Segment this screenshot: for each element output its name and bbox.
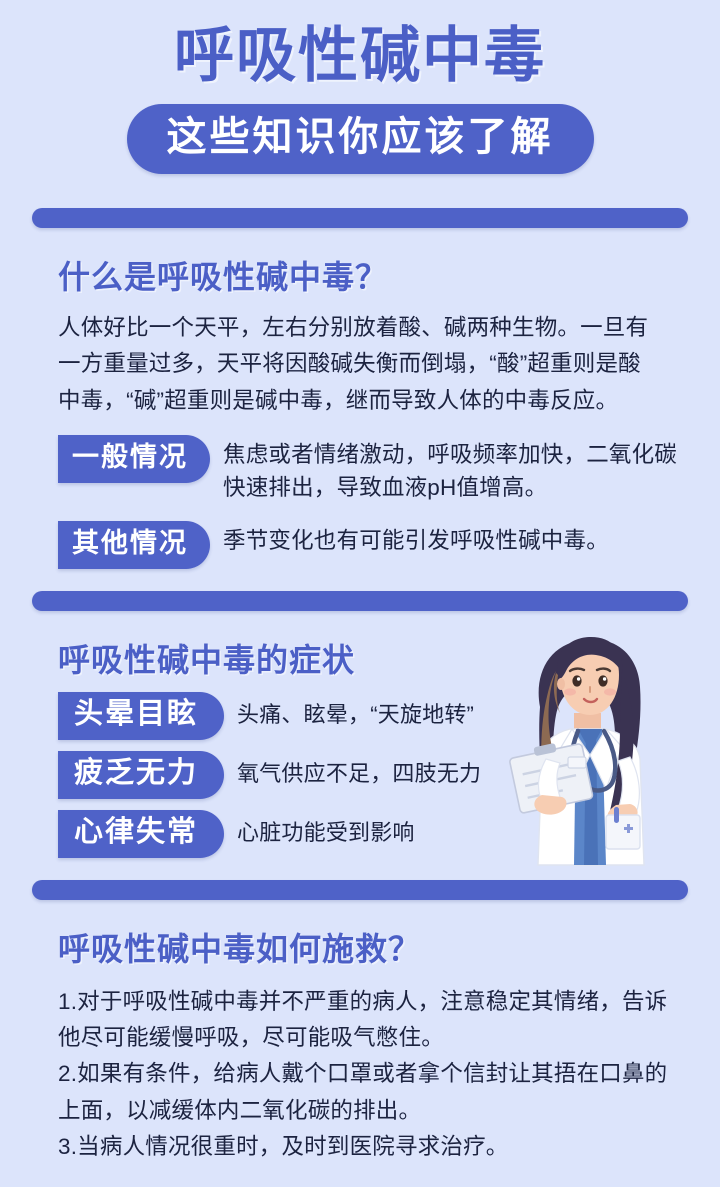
poster-header: 呼吸性碱中毒 这些知识你应该了解: [0, 0, 720, 174]
first-aid-steps: 1.对于呼吸性碱中毒并不严重的病人，注意稳定其情绪，告诉他尽可能缓慢呼吸，尽可能…: [58, 984, 672, 1166]
tag-row-fatigue: 疲乏无力 氧气供应不足，四肢无力: [58, 751, 690, 799]
section-paragraph-what-is: 人体好比一个天平，左右分别放着酸、碱两种生物。一旦有一方重量过多，天平将因酸碱失…: [58, 310, 660, 419]
section-divider-3: [32, 880, 688, 900]
tag-desc-arrhythmia: 心脏功能受到影响: [224, 810, 415, 849]
tag-label-general: 一般情况: [58, 435, 210, 483]
page-title: 呼吸性碱中毒: [0, 26, 720, 86]
tag-desc-other: 季节变化也有可能引发呼吸性碱中毒。: [210, 521, 609, 558]
tag-row-arrhythmia: 心律失常 心脏功能受到影响: [58, 810, 690, 858]
section-divider-2: [32, 591, 688, 611]
tag-row-other: 其他情况 季节变化也有可能引发呼吸性碱中毒。: [58, 521, 690, 569]
infographic-poster: 呼吸性碱中毒 这些知识你应该了解 什么是呼吸性碱中毒？ 人体好比一个天平，左右分…: [0, 0, 720, 1187]
tag-label-other: 其他情况: [58, 521, 210, 569]
tag-row-dizziness: 头晕目眩 头痛、眩晕，“天旋地转”: [58, 692, 690, 740]
section-divider-1: [32, 208, 688, 228]
section-heading-symptoms: 呼吸性碱中毒的症状: [58, 635, 690, 681]
tag-row-general: 一般情况 焦虑或者情绪激动，呼吸频率加快，二氧化碳快速排出，导致血液pH值增高。: [58, 435, 690, 504]
tag-label-arrhythmia: 心律失常: [58, 810, 224, 858]
section-what-is: 什么是呼吸性碱中毒？ 人体好比一个天平，左右分别放着酸、碱两种生物。一旦有一方重…: [0, 252, 720, 569]
tag-desc-dizziness: 头痛、眩晕，“天旋地转”: [224, 692, 474, 731]
section-heading-first-aid: 呼吸性碱中毒如何施救？: [58, 924, 690, 970]
tag-label-fatigue: 疲乏无力: [58, 751, 224, 799]
tag-desc-general: 焦虑或者情绪激动，呼吸频率加快，二氧化碳快速排出，导致血液pH值增高。: [210, 435, 690, 504]
tag-desc-fatigue: 氧气供应不足，四肢无力: [224, 751, 481, 790]
subtitle-pill: 这些知识你应该了解: [127, 104, 594, 174]
tag-label-dizziness: 头晕目眩: [58, 692, 224, 740]
section-heading-what-is: 什么是呼吸性碱中毒？: [58, 252, 690, 298]
section-first-aid: 呼吸性碱中毒如何施救？ 1.对于呼吸性碱中毒并不严重的病人，注意稳定其情绪，告诉…: [0, 924, 720, 1166]
section-symptoms: 呼吸性碱中毒的症状 头晕目眩 头痛、眩晕，“天旋地转” 疲乏无力 氧气供应不足，…: [0, 635, 720, 858]
